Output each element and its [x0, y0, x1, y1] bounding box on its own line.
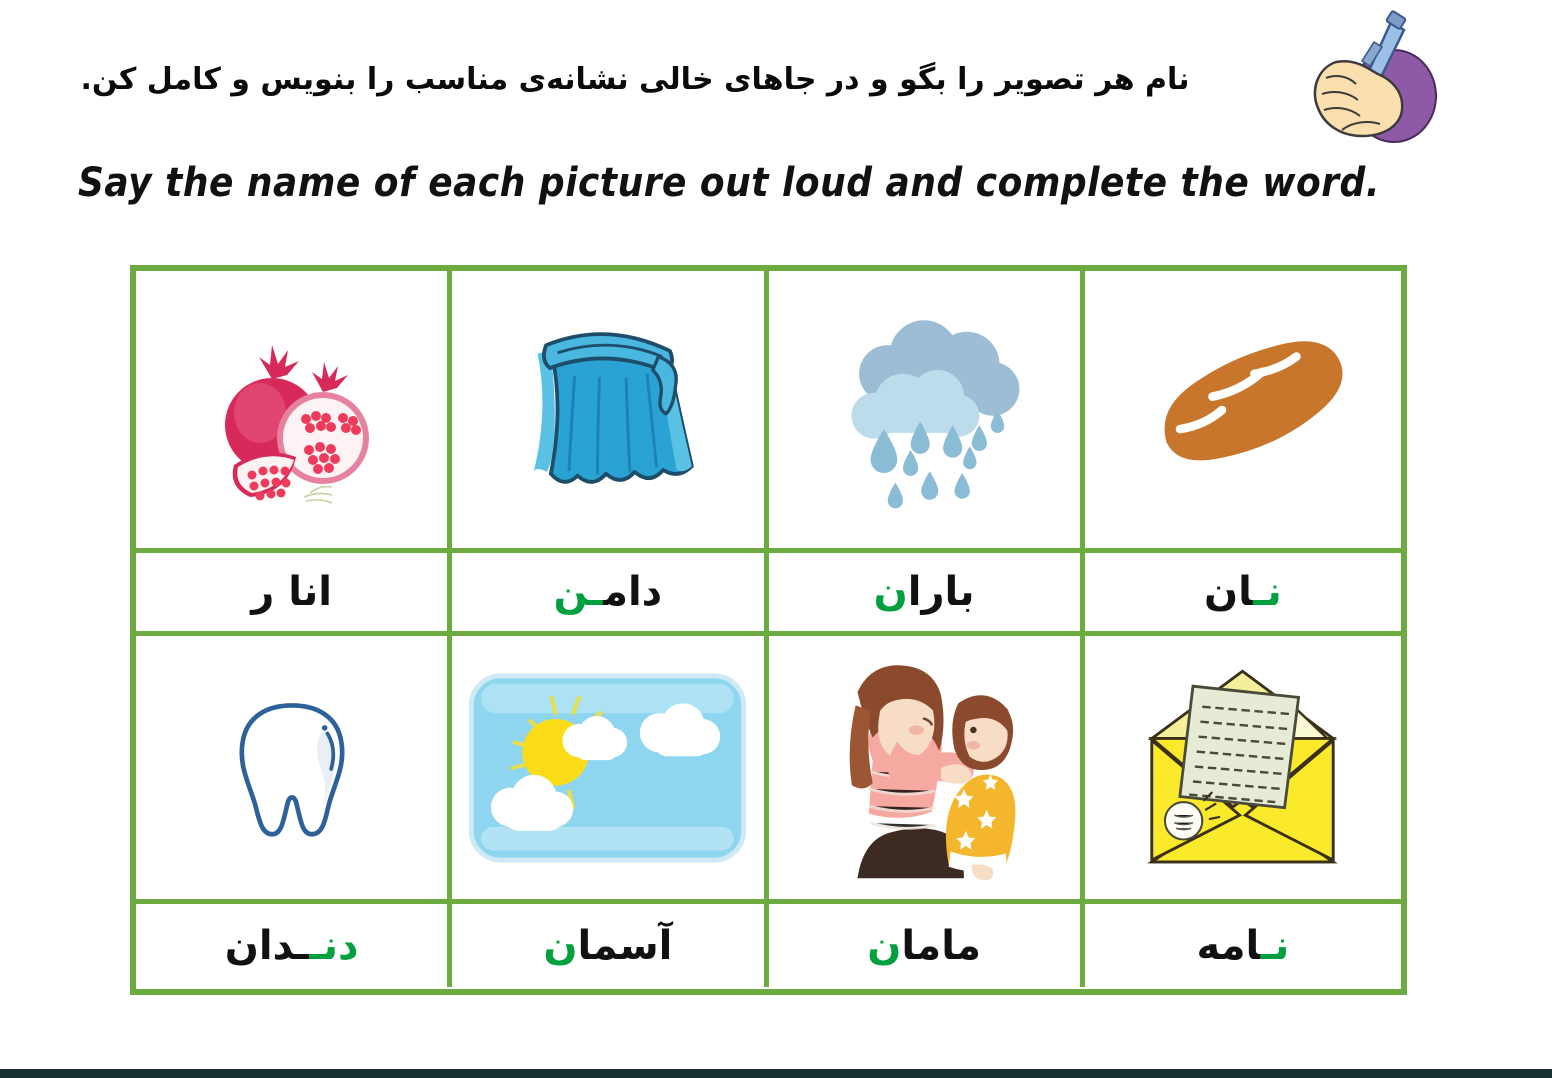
word-cell-daman: دامـن — [452, 553, 768, 636]
word-cell-dandan: دنــدان — [136, 904, 452, 987]
word-prefix: ماما — [901, 923, 981, 969]
picture-word-table: انا ر دامـن باران نـان — [130, 265, 1407, 995]
worksheet-page: نام هر تصویر را بگو و در جاهای خالی نشان… — [0, 0, 1552, 1078]
word-suffix: ان — [1204, 569, 1253, 615]
picture-cell-rain-cloud — [769, 271, 1085, 553]
word-cell-nan: نـان — [1085, 553, 1401, 636]
word-highlight: دنـ — [309, 923, 358, 969]
instruction-english: Say the name of each picture out loud an… — [78, 160, 1380, 206]
bread-loaf-image — [1085, 271, 1401, 548]
word-cell-maman: مامان — [769, 904, 1085, 987]
word-highlight: ن — [543, 923, 577, 969]
picture-cell-bread — [1085, 271, 1401, 553]
pomegranate-image — [136, 271, 447, 548]
word-label: مامان — [867, 926, 981, 966]
word-label: نـامه — [1197, 926, 1290, 966]
picture-cell-skirt — [452, 271, 768, 553]
word-cell-nameh: نـامه — [1085, 904, 1401, 987]
mother-and-child-image — [769, 636, 1080, 899]
hand-writing-with-pen-icon — [1296, 4, 1456, 164]
instruction-persian: نام هر تصویر را بگو و در جاهای خالی نشان… — [0, 62, 1270, 97]
word-label: باران — [874, 572, 975, 612]
word-highlight: نـ — [1253, 569, 1282, 615]
word-prefix: دام — [603, 569, 662, 615]
word-highlight: ـن — [554, 569, 604, 615]
word-prefix: انا — [288, 569, 332, 615]
word-prefix: بارا — [908, 569, 975, 615]
picture-cell-sky — [452, 636, 768, 904]
rain-cloud-image — [769, 271, 1080, 548]
word-cell-aseman: آسمان — [452, 904, 768, 987]
word-cell-baran: باران — [769, 553, 1085, 636]
picture-cell-tooth — [136, 636, 452, 904]
word-label: دنــدان — [225, 926, 359, 966]
sky-image — [452, 636, 763, 899]
word-suffix: ـدان — [225, 923, 310, 969]
word-suffix: امه — [1197, 923, 1261, 969]
bottom-bar — [0, 1069, 1552, 1078]
word-label: نـان — [1204, 572, 1282, 612]
picture-cell-envelope — [1085, 636, 1401, 904]
word-highlight: ن — [867, 923, 901, 969]
picture-cell-pomegranate — [136, 271, 452, 553]
word-label: دامـن — [554, 572, 663, 612]
skirt-image — [452, 271, 763, 548]
word-prefix: آسما — [578, 923, 673, 969]
word-highlight: ن — [874, 569, 908, 615]
word-highlight: نـ — [1261, 923, 1290, 969]
picture-cell-mother-child — [769, 636, 1085, 904]
word-suffix: ر — [251, 569, 288, 615]
word-cell-anar: انا ر — [136, 553, 452, 636]
word-label: انا ر — [251, 572, 332, 612]
tooth-image — [136, 636, 447, 899]
envelope-letter-image — [1085, 636, 1401, 899]
word-label: آسمان — [543, 926, 672, 966]
